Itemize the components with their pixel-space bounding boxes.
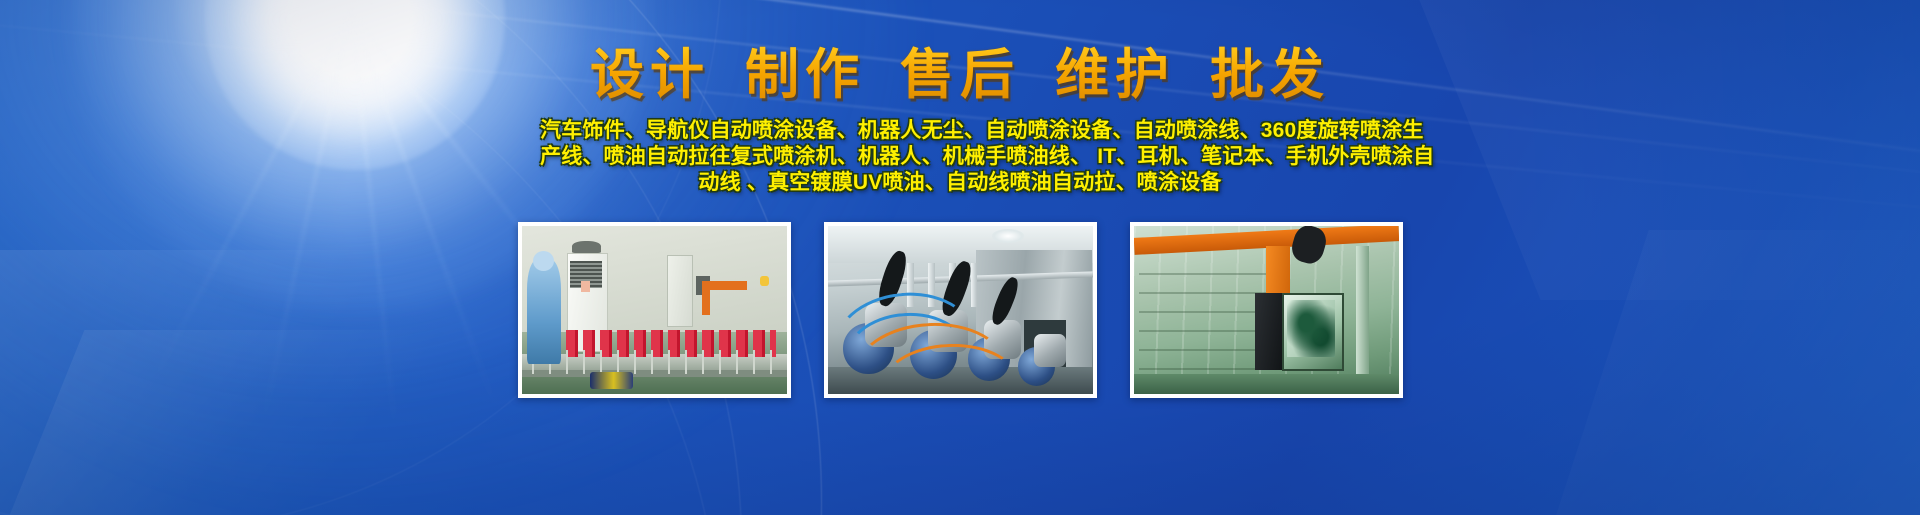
ceiling-lamp [992,229,1024,242]
coated-panel-surface [1287,300,1335,357]
photo-robot-arm-booth[interactable] [1130,222,1403,398]
warning-light [760,276,769,286]
headline-word-4: 维护 [1055,45,1175,105]
worker-figure [527,260,561,364]
photo-scene [1134,226,1399,394]
banner-headline: 设计 制作 售后 维护 批发 [0,0,1920,102]
photo-spray-gun-array[interactable] [824,222,1097,398]
orange-frame [702,281,710,315]
subtitle-line: 汽车饰件、导航仪自动喷涂设备、机器人无尘、自动喷涂设备、自动喷涂线、360度旋转… [540,118,1380,144]
headline-word-2: 制作 [745,45,865,105]
cleanroom-door [667,255,693,328]
photo-strip [0,222,1920,398]
subtitle-line: 产线、喷油自动拉往复式喷涂机、机器人、机械手喷油线、 IT、耳机、笔记本、手机外… [540,144,1380,170]
worker-head [533,251,554,271]
wall [522,226,787,332]
headline-word-1: 设计 [590,45,710,105]
ceiling-fan [572,241,601,253]
photo-cleanroom-coating-line[interactable] [518,222,791,398]
headline-word-5: 批发 [1210,45,1330,105]
vertical-post [971,263,978,307]
subtitle-line: 动线 、真空镀膜UV喷油、自动线喷油自动拉、喷涂设备 [540,170,1380,196]
promo-banner: 设计 制作 售后 维护 批发 汽车饰件、导航仪自动喷涂设备、机器人无尘、自动喷涂… [0,0,1920,515]
tool-kit [590,372,632,389]
wall-box [581,281,589,291]
headline-word-3: 售后 [900,45,1020,105]
booth-post [1356,246,1369,374]
photo-scene [522,226,787,394]
floor [1134,374,1399,394]
spray-gun-body [1034,334,1066,368]
photo-scene [828,226,1093,394]
part-holders [532,350,776,374]
banner-content: 设计 制作 售后 维护 批发 汽车饰件、导航仪自动喷涂设备、机器人无尘、自动喷涂… [0,0,1920,196]
banner-subtitle: 汽车饰件、导航仪自动喷涂设备、机器人无尘、自动喷涂设备、自动喷涂线、360度旋转… [540,118,1380,196]
